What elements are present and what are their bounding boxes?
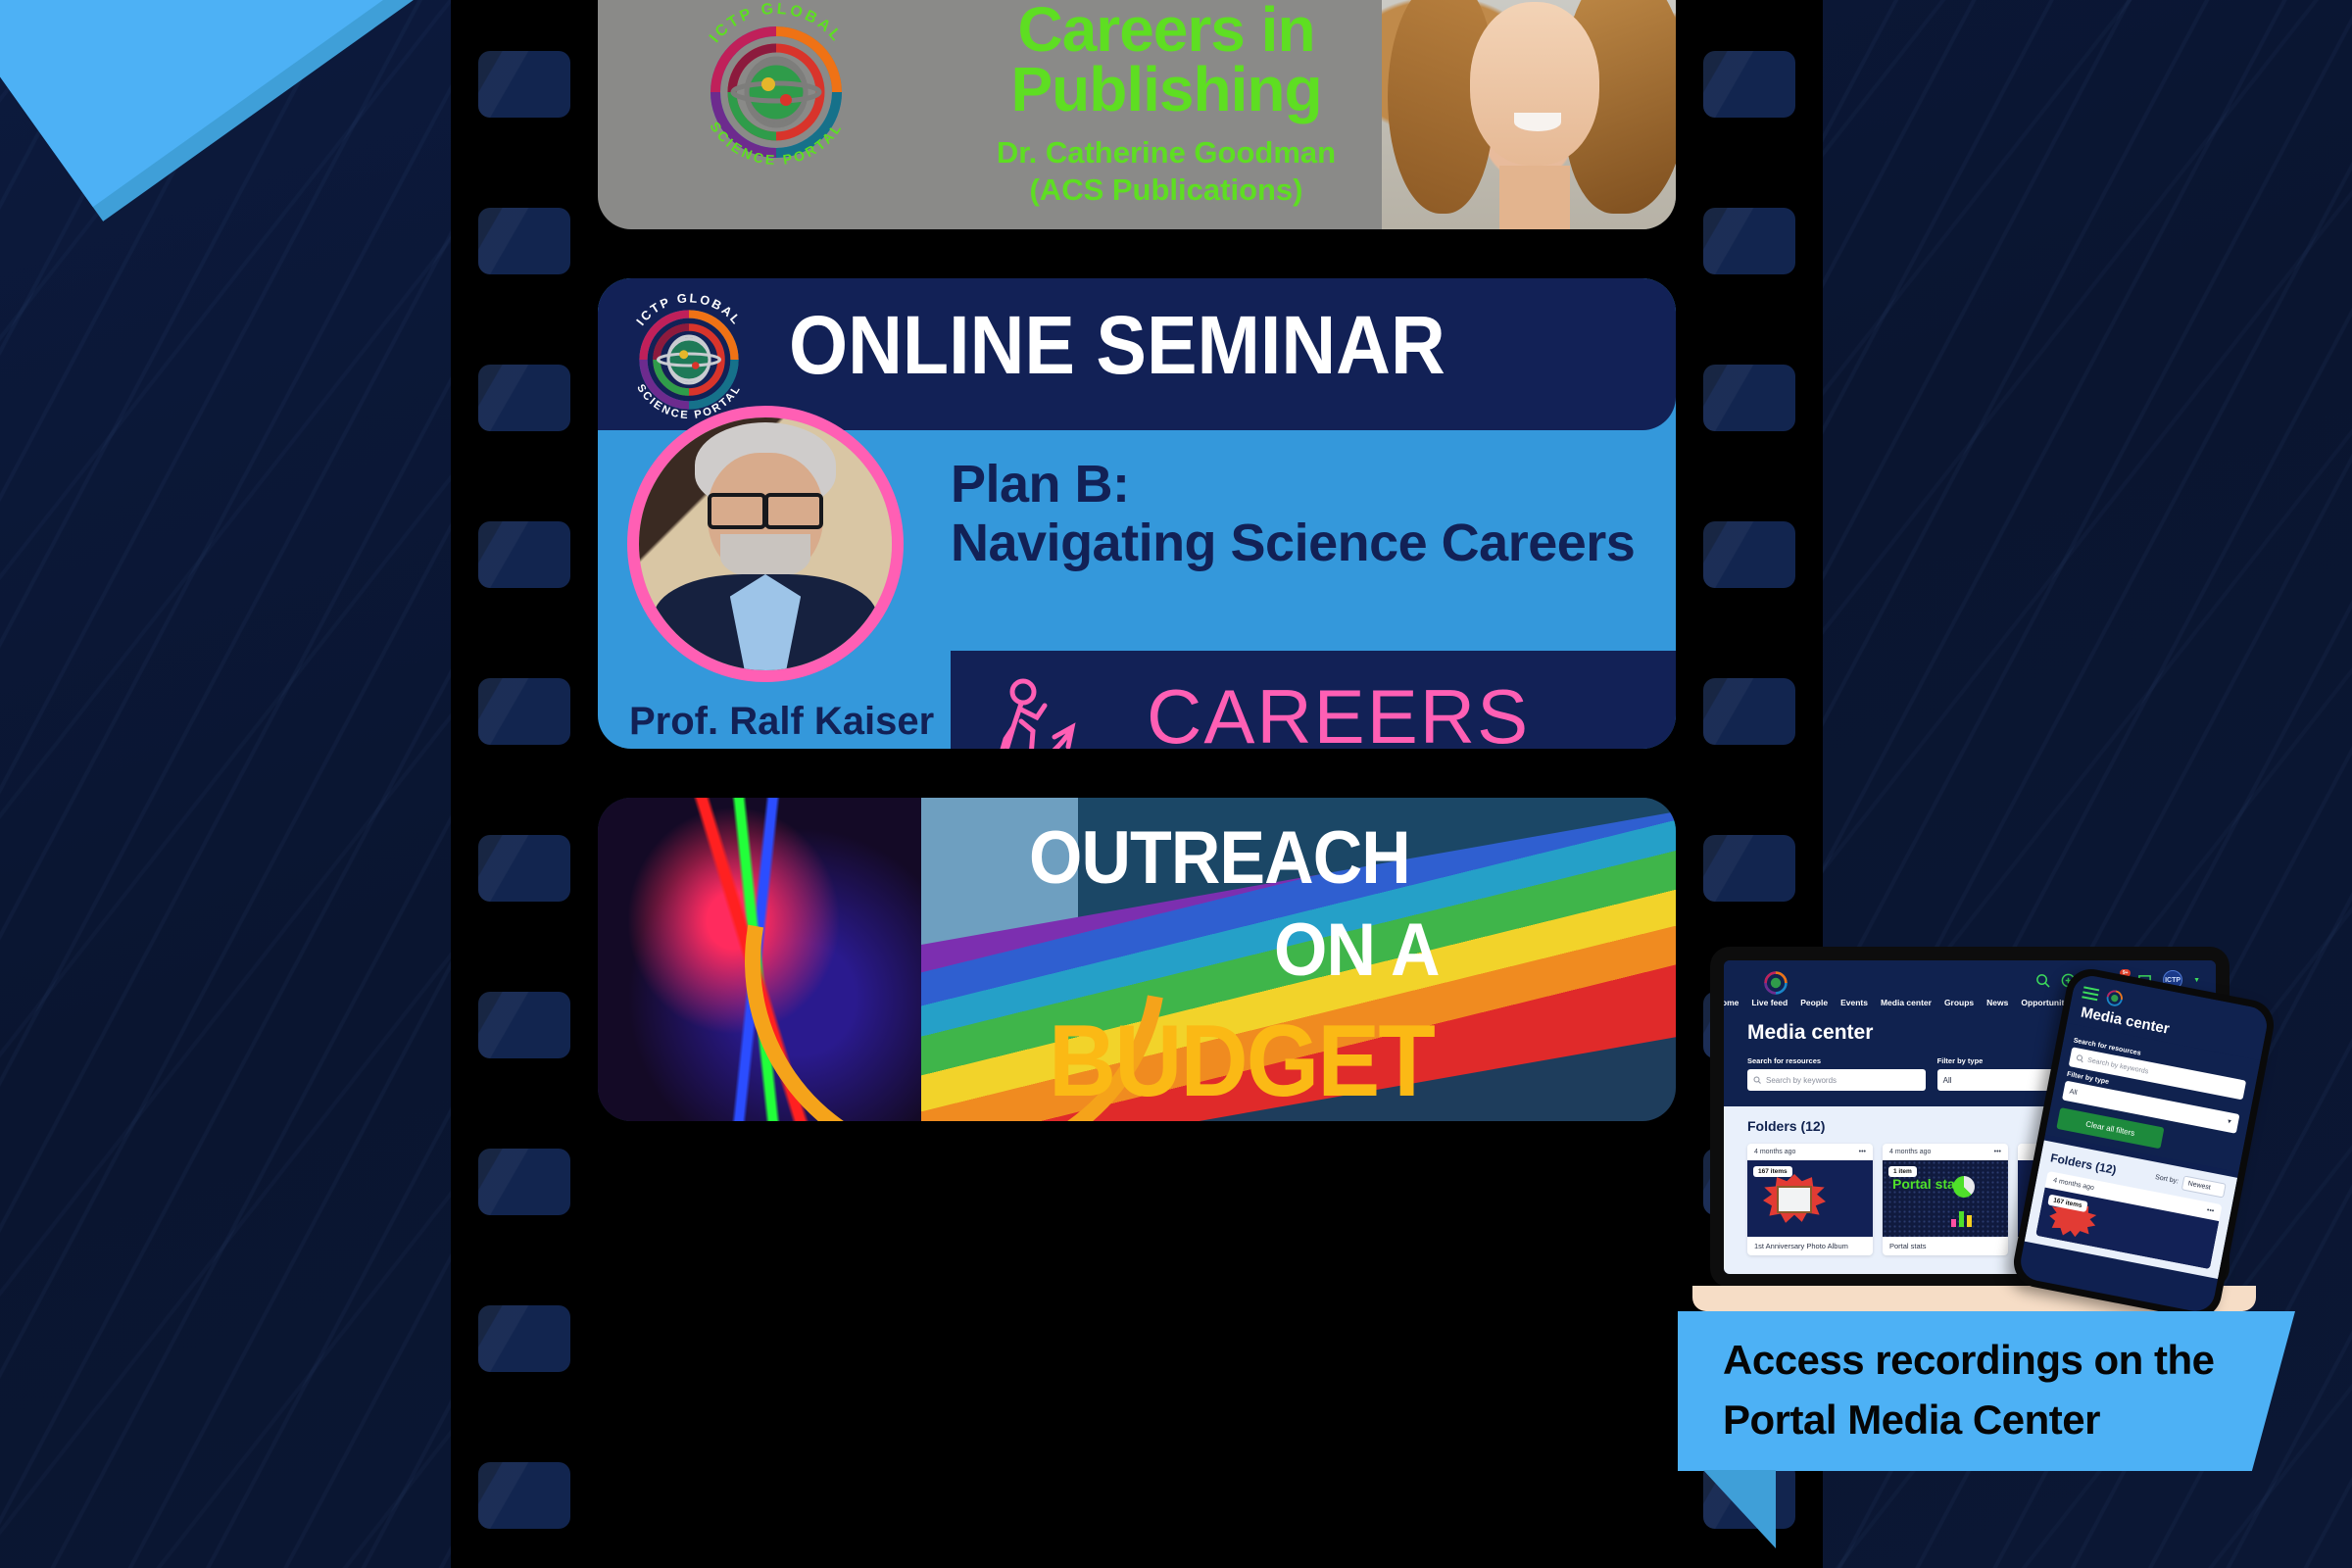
search-icon[interactable] xyxy=(2035,973,2050,988)
portal-logo-icon[interactable] xyxy=(2104,988,2125,1008)
search-field-group: Search for resources Search by keywords xyxy=(1747,1056,1926,1091)
speaker-photo-kaiser xyxy=(627,406,904,682)
chevron-down-icon[interactable]: ▼ xyxy=(2193,977,2200,984)
hamburger-menu-icon[interactable] xyxy=(2082,986,2100,1004)
perforation xyxy=(478,208,570,274)
careers-label: CAREERS xyxy=(1147,672,1530,749)
film-strip: ICTP GLOBAL SCIENCE PORTAL Careers in Pu… xyxy=(451,0,1823,1568)
svg-text:ICTP GLOBAL: ICTP GLOBAL xyxy=(633,290,745,328)
comic-frame-decoration xyxy=(1777,1186,1812,1213)
ictp-portal-logo: ICTP GLOBAL SCIENCE PORTAL xyxy=(678,0,874,186)
card-thumbnail: 167 items xyxy=(1747,1160,1873,1237)
callout-line-1: Access recordings on the xyxy=(1723,1331,2272,1391)
filter-value: All xyxy=(1943,1076,1952,1085)
perforation xyxy=(478,835,570,902)
frame1-text-block: Careers in Publishing Dr. Catherine Good… xyxy=(892,0,1441,209)
more-options-icon[interactable]: ••• xyxy=(1994,1149,2001,1155)
card-caption: Portal stats xyxy=(1883,1237,2008,1255)
card-date: 4 months ago xyxy=(1889,1149,1931,1155)
perforation xyxy=(478,1462,570,1529)
perforation xyxy=(1703,835,1795,902)
sort-select[interactable]: Newest xyxy=(2180,1175,2226,1198)
search-label: Search for resources xyxy=(1747,1056,1926,1065)
folder-card[interactable]: 4 months ago ••• 1 item Portal stats xyxy=(1883,1144,2008,1255)
film-perforations-left xyxy=(451,0,598,1568)
perforation xyxy=(478,992,570,1058)
perforation xyxy=(478,678,570,745)
frame1-title-line2: Publishing xyxy=(892,60,1441,120)
perforation xyxy=(1703,365,1795,431)
running-person-arrow-icon xyxy=(988,676,1115,749)
perforation xyxy=(1703,51,1795,118)
nav-item-people[interactable]: People xyxy=(1800,998,1828,1007)
card-caption: 1st Anniversary Photo Album xyxy=(1747,1237,1873,1255)
frame-careers-in-publishing[interactable]: ICTP GLOBAL SCIENCE PORTAL Careers in Pu… xyxy=(598,0,1676,229)
perforation xyxy=(478,51,570,118)
callout-text: Access recordings on the Portal Media Ce… xyxy=(1723,1331,2272,1450)
sort-label: Sort by: xyxy=(2155,1174,2180,1185)
careers-bar: CAREERS xyxy=(951,651,1676,749)
nav-item-live-feed[interactable]: Live feed xyxy=(1751,998,1788,1007)
items-badge: 167 items xyxy=(1753,1166,1792,1177)
seminar-speaker-name: Prof. Ralf Kaiser xyxy=(629,700,934,744)
nav-item-news[interactable]: News xyxy=(1986,998,2008,1007)
seminar-banner-title: ONLINE SEMINAR xyxy=(789,304,1445,386)
card-date: 4 months ago xyxy=(1754,1149,1795,1155)
perforation xyxy=(478,1305,570,1372)
outreach-title-line1: OUTREACH xyxy=(1029,815,1410,901)
talk-line-2: Navigating Science Careers xyxy=(951,514,1676,572)
more-options-icon[interactable]: ••• xyxy=(1859,1149,1866,1155)
card-header: 4 months ago ••• xyxy=(1747,1144,1873,1160)
more-options-icon[interactable]: ••• xyxy=(2206,1207,2215,1215)
nav-item-events[interactable]: Events xyxy=(1840,998,1868,1007)
nav-item-home[interactable]: Home xyxy=(1724,998,1739,1007)
search-icon xyxy=(2076,1053,2084,1062)
filter-value: All xyxy=(2069,1088,2078,1096)
search-input[interactable]: Search by keywords xyxy=(1747,1069,1926,1091)
nav-item-groups[interactable]: Groups xyxy=(1944,998,1974,1007)
perforation xyxy=(478,521,570,588)
logo-top-text: ICTP GLOBAL xyxy=(707,1,846,46)
nav-item-media-center[interactable]: Media center xyxy=(1881,998,1932,1007)
frame1-title-line1: Careers in xyxy=(892,0,1441,60)
frame-online-seminar[interactable]: ICTP GLOBAL SCIENCE PORTAL ONLINE SEMINA… xyxy=(598,278,1676,749)
perforation xyxy=(1703,521,1795,588)
search-icon xyxy=(1753,1076,1761,1084)
callout-line-2: Portal Media Center xyxy=(1723,1391,2272,1450)
search-placeholder: Search by keywords xyxy=(2087,1056,2149,1075)
outreach-title-line2: ON A xyxy=(1274,907,1440,993)
perforation xyxy=(478,1149,570,1215)
film-frames-window: ICTP GLOBAL SCIENCE PORTAL Careers in Pu… xyxy=(598,0,1676,1568)
perforation xyxy=(1703,678,1795,745)
logo-top-text: ICTP GLOBAL xyxy=(633,290,745,328)
svg-text:ICTP GLOBAL: ICTP GLOBAL xyxy=(707,1,846,46)
pie-chart-icon xyxy=(1953,1176,1975,1198)
frame1-speaker-name: Dr. Catherine Goodman xyxy=(892,134,1441,171)
device-mockup-group: 9+ ICTP ▼ Home Live feed People Events M xyxy=(1700,943,2269,1315)
perforation xyxy=(478,365,570,431)
search-placeholder: Search by keywords xyxy=(1766,1076,1837,1085)
portal-logo-icon[interactable] xyxy=(1763,970,1788,996)
talk-line-1: Plan B: xyxy=(951,455,1676,514)
seminar-talk-title: Plan B: Navigating Science Careers xyxy=(951,455,1676,573)
page-title: Media center xyxy=(1747,1021,1873,1045)
frame1-speaker-affiliation: (ACS Publications) xyxy=(892,171,1441,209)
frame-outreach-on-a-budget[interactable]: OUTREACH ON A BUDGET xyxy=(598,798,1676,1121)
perforation xyxy=(1703,208,1795,274)
bar-chart-icon xyxy=(1951,1207,1981,1227)
card-header: 4 months ago ••• xyxy=(1883,1144,2008,1160)
poster-canvas: ICTP GLOBAL SCIENCE PORTAL Careers in Pu… xyxy=(0,0,2352,1568)
folder-card[interactable]: 4 months ago ••• 167 items 1st Anniversa… xyxy=(1747,1144,1873,1255)
outreach-title-line3: BUDGET xyxy=(1049,1004,1434,1120)
chevron-down-icon: ▼ xyxy=(2226,1119,2232,1126)
card-thumbnail: 1 item Portal stats xyxy=(1883,1160,2008,1237)
